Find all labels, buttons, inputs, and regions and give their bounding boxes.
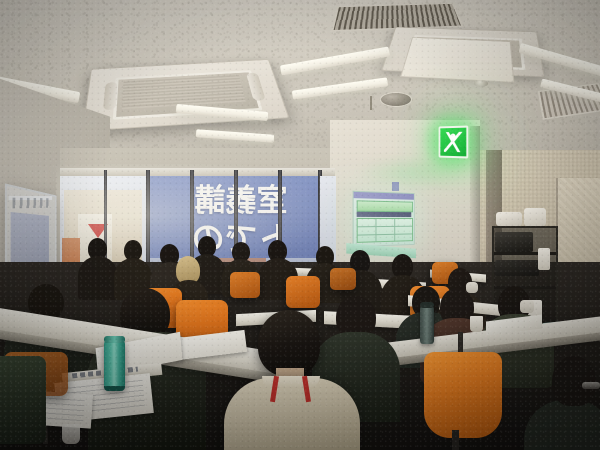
smoke-detector-icon bbox=[474, 80, 488, 87]
student-head bbox=[552, 356, 596, 406]
ac-vent-left bbox=[103, 82, 118, 110]
chair-foreground-left bbox=[0, 356, 46, 444]
water-bottle bbox=[420, 306, 434, 344]
foreground-student-collar bbox=[262, 376, 320, 388]
classroom-chair bbox=[330, 268, 356, 290]
projected-slide-marker bbox=[392, 182, 399, 191]
student-body bbox=[78, 256, 118, 300]
shelf-item-av-equipment bbox=[495, 232, 533, 252]
classroom-chair-foreground bbox=[424, 352, 502, 438]
classroom-photo: 室義講 トでの bbox=[0, 0, 600, 450]
window-mullion bbox=[146, 170, 150, 268]
slide-title-bar bbox=[354, 192, 414, 200]
slide-column-header-row bbox=[357, 212, 412, 217]
whiteboard-writing bbox=[13, 198, 50, 209]
foreground-student-head bbox=[258, 310, 320, 376]
shelf-item-white-container bbox=[524, 208, 546, 226]
ceiling-cable bbox=[370, 96, 372, 110]
face-mask bbox=[520, 300, 534, 313]
shelf-row bbox=[494, 286, 556, 289]
shelf-item-black-device bbox=[495, 260, 539, 276]
water-bottle-lid bbox=[420, 302, 434, 308]
tumbler-lid bbox=[104, 336, 125, 343]
paper-cup bbox=[62, 424, 80, 444]
chair-leg bbox=[452, 430, 459, 450]
banner-text-row1: 室義講 bbox=[146, 178, 336, 216]
shelf-item-white-box bbox=[496, 212, 522, 226]
exit-sign bbox=[439, 126, 469, 159]
slide-table-grid bbox=[357, 218, 413, 243]
light-diffuser-panel bbox=[400, 37, 514, 82]
slide-header-row bbox=[357, 200, 413, 212]
foreground-student-sweater bbox=[224, 378, 360, 450]
eyeglasses bbox=[582, 382, 600, 389]
tumbler-base bbox=[104, 386, 125, 391]
window-mullion bbox=[190, 170, 194, 268]
projected-slide bbox=[353, 191, 415, 247]
paper-cup bbox=[470, 316, 483, 332]
teal-tumbler bbox=[104, 340, 125, 390]
classroom-chair bbox=[286, 276, 320, 308]
window-transom bbox=[60, 168, 335, 176]
shelf-item-white-binder bbox=[538, 248, 550, 270]
classroom-chair bbox=[230, 272, 260, 298]
ceiling-speaker-icon bbox=[380, 92, 412, 107]
running-person-icon bbox=[444, 132, 463, 152]
